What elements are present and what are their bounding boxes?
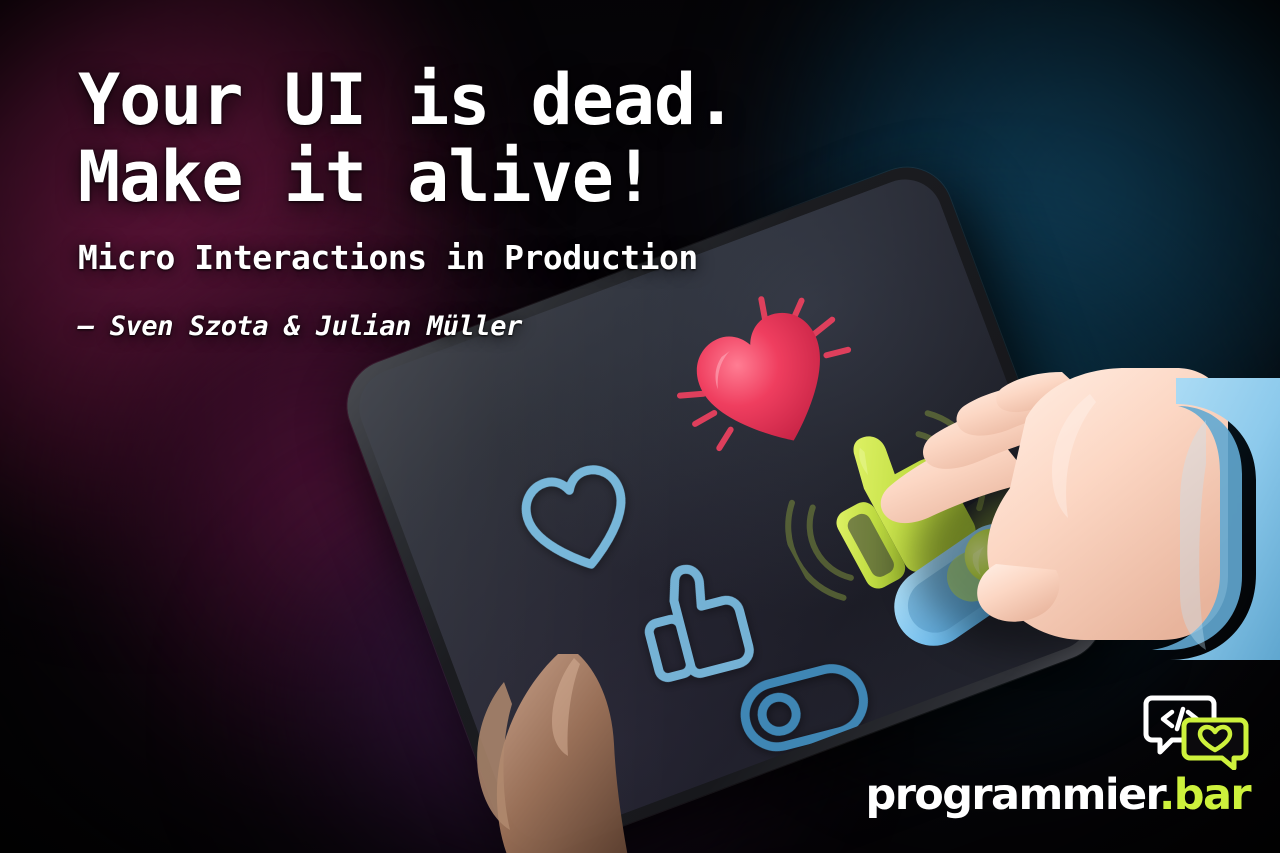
title-block: Your UI is dead. Make it alive! Micro In… <box>78 62 736 342</box>
pointing-hand <box>876 368 1280 713</box>
speaker-byline: — Sven Szota & Julian Müller <box>78 311 736 342</box>
brand-name-main: programmier <box>866 770 1160 820</box>
logo-badge-icon <box>1142 694 1250 770</box>
slide-canvas: programmier.bar Your UI is dead. Make it… <box>0 0 1280 853</box>
subtitle: Micro Interactions in Production <box>78 238 736 277</box>
headline-line-1: Your UI is dead. <box>78 62 736 139</box>
headline-line-2: Make it alive! <box>78 139 736 216</box>
heart-bubble-icon <box>1184 720 1246 768</box>
brand-name-tld: .bar <box>1159 770 1250 820</box>
holding-hand <box>474 648 724 853</box>
brand-wordmark: programmier.bar <box>866 774 1250 817</box>
brand-logo[interactable]: programmier.bar <box>866 694 1250 817</box>
